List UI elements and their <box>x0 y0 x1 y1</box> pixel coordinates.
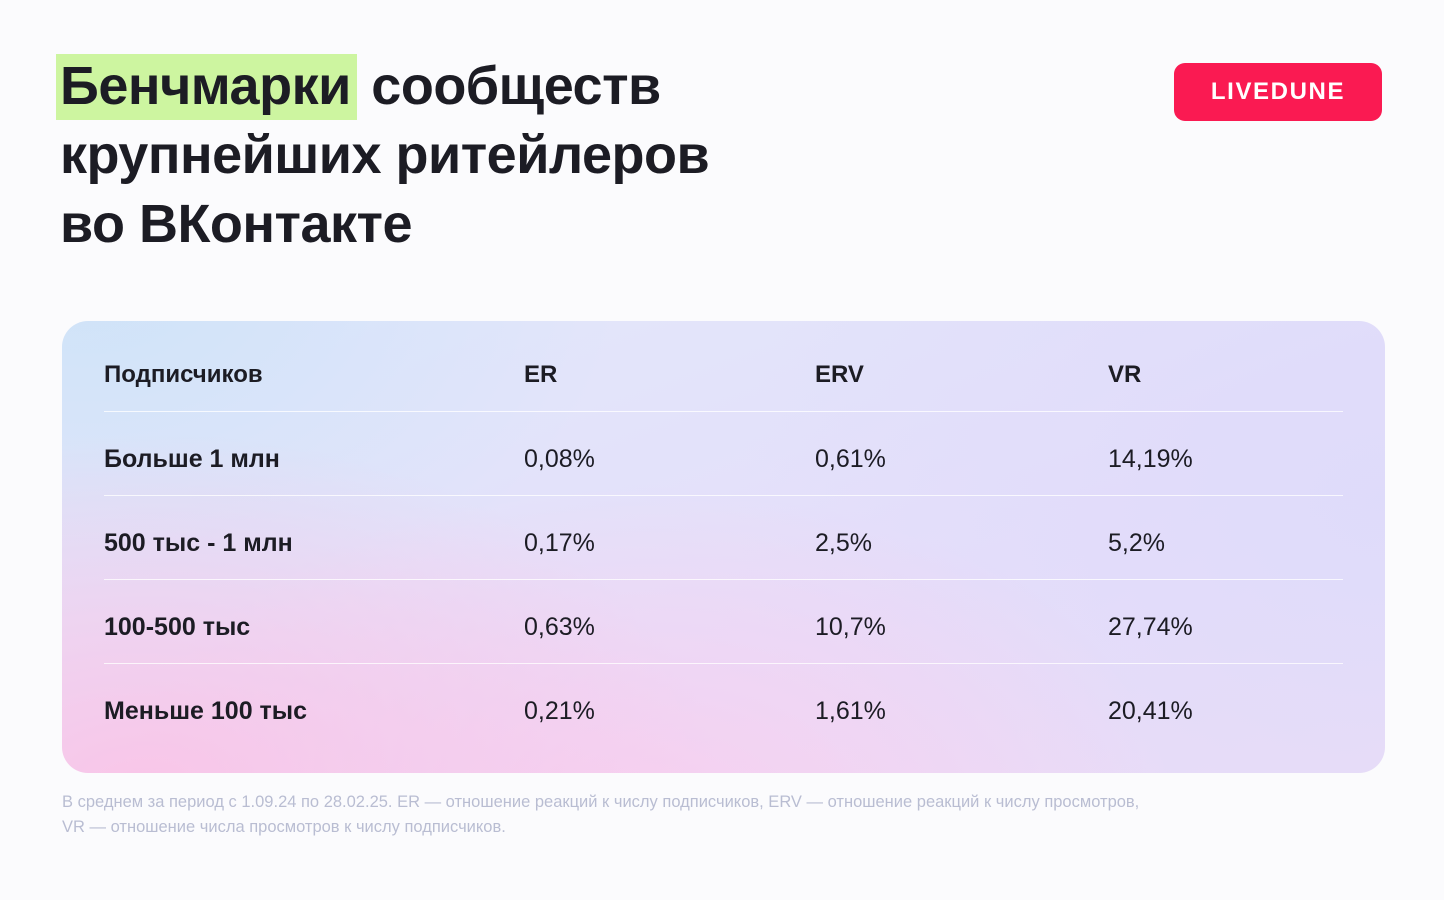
cell-er: 0,21% <box>524 697 595 726</box>
page-title: Бенчмарки сообществ крупнейших ритейлеро… <box>60 52 960 259</box>
header: Бенчмарки сообществ крупнейших ритейлеро… <box>0 0 1444 300</box>
row-divider <box>104 495 1343 496</box>
title-line-3: во ВКонтакте <box>60 190 960 259</box>
table-header-row: Подписчиков ER ERV VR <box>62 333 1385 417</box>
cell-erv: 1,61% <box>815 697 886 726</box>
row-divider <box>104 663 1343 664</box>
column-header-erv: ERV <box>815 361 864 389</box>
table-row: 100-500 тыс 0,63% 10,7% 27,74% <box>62 585 1385 669</box>
cell-subscribers: Меньше 100 тыс <box>104 697 307 726</box>
footnote: В среднем за период с 1.09.24 по 28.02.2… <box>62 790 1392 840</box>
footnote-line-1: В среднем за период с 1.09.24 по 28.02.2… <box>62 790 1392 815</box>
title-line-2: крупнейших ритейлеров <box>60 121 960 190</box>
cell-er: 0,08% <box>524 445 595 474</box>
row-divider <box>104 579 1343 580</box>
cell-vr: 5,2% <box>1108 529 1165 558</box>
title-highlight: Бенчмарки <box>56 54 357 120</box>
cell-vr: 27,74% <box>1108 613 1193 642</box>
cell-erv: 0,61% <box>815 445 886 474</box>
column-header-subscribers: Подписчиков <box>104 361 263 389</box>
cell-subscribers: 100-500 тыс <box>104 613 250 642</box>
title-rest: сообществ <box>357 56 661 116</box>
cell-vr: 20,41% <box>1108 697 1193 726</box>
column-header-vr: VR <box>1108 361 1141 389</box>
footnote-line-2: VR — отношение числа просмотров к числу … <box>62 815 1392 840</box>
cell-er: 0,17% <box>524 529 595 558</box>
cell-er: 0,63% <box>524 613 595 642</box>
table-row: Меньше 100 тыс 0,21% 1,61% 20,41% <box>62 669 1385 753</box>
infographic-page: Бенчмарки сообществ крупнейших ритейлеро… <box>0 0 1444 900</box>
cell-subscribers: Больше 1 млн <box>104 445 280 474</box>
cell-subscribers: 500 тыс - 1 млн <box>104 529 293 558</box>
row-divider <box>104 411 1343 412</box>
table-row: Больше 1 млн 0,08% 0,61% 14,19% <box>62 417 1385 501</box>
cell-vr: 14,19% <box>1108 445 1193 474</box>
cell-erv: 10,7% <box>815 613 886 642</box>
column-header-er: ER <box>524 361 557 389</box>
logo-label: LIVEDUNE <box>1211 78 1345 106</box>
benchmark-table: Подписчиков ER ERV VR Больше 1 млн 0,08%… <box>62 321 1385 773</box>
benchmark-card: Подписчиков ER ERV VR Больше 1 млн 0,08%… <box>62 321 1385 773</box>
table-row: 500 тыс - 1 млн 0,17% 2,5% 5,2% <box>62 501 1385 585</box>
title-line-1: Бенчмарки сообществ <box>60 52 960 121</box>
cell-erv: 2,5% <box>815 529 872 558</box>
livedune-logo-badge[interactable]: LIVEDUNE <box>1174 63 1382 121</box>
